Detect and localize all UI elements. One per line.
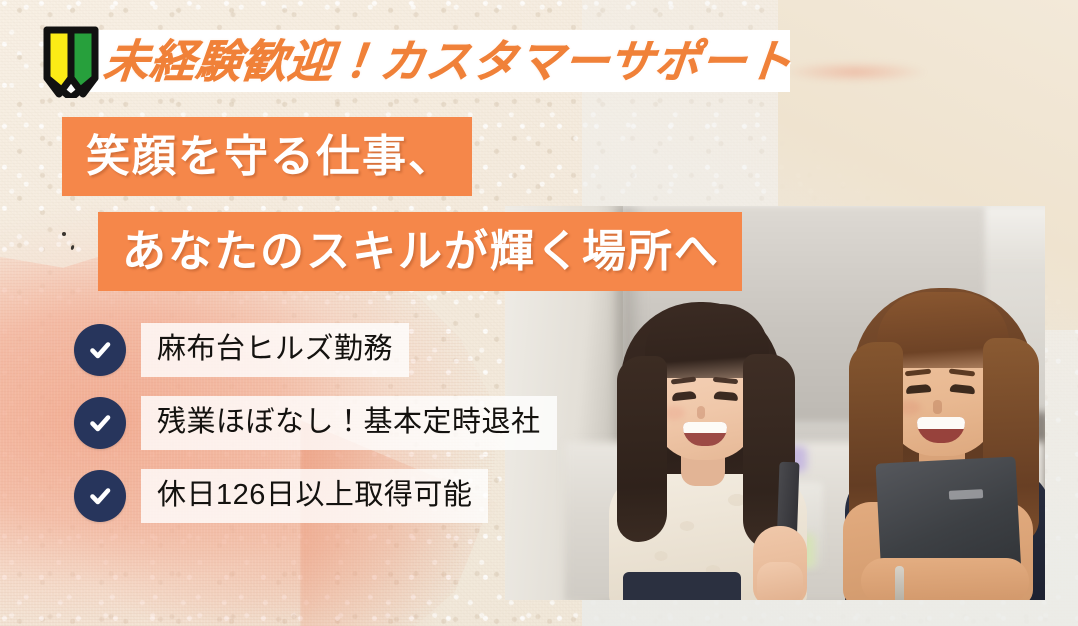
- benefit-item: 休日126日以上取得可能: [74, 470, 557, 522]
- laptop-logo: [949, 489, 983, 500]
- check-circle-icon: [74, 324, 126, 376]
- benefit-item: 残業ほぼなし！基本定時退社: [74, 397, 557, 449]
- benefit-label: 休日126日以上取得可能: [141, 469, 488, 523]
- benefit-label: 残業ほぼなし！基本定時退社: [141, 396, 557, 450]
- catch-copy-text: 未経験歓迎！カスタマーサポート: [101, 28, 797, 94]
- person-right-bracelet: [895, 566, 904, 600]
- person-right-nose: [933, 400, 942, 414]
- person-left-nose: [697, 406, 705, 419]
- benefits-list: 麻布台ヒルズ勤務 残業ほぼなし！基本定時退社 休日126日以上取得可能: [74, 324, 557, 543]
- benefit-item: 麻布台ヒルズ勤務: [74, 324, 557, 376]
- headline-line1-text: 笑顔を守る仕事、: [86, 135, 454, 179]
- person-left-skirt: [623, 572, 741, 600]
- person-left-hand: [757, 562, 803, 600]
- benefit-label: 麻布台ヒルズ勤務: [141, 323, 409, 377]
- headline-block-line2: あなたのスキルが輝く場所へ: [98, 212, 742, 291]
- check-circle-icon: [74, 470, 126, 522]
- headline-line2-text: あなたのスキルが輝く場所へ: [122, 230, 720, 274]
- person-right-forearm: [861, 558, 1029, 600]
- recruitment-banner: 未経験歓迎！カスタマーサポート 笑顔を守る仕事、 あなたのスキルが輝く場所へ 麻…: [0, 0, 1078, 626]
- check-circle-icon: [74, 397, 126, 449]
- headline-block-line1: 笑顔を守る仕事、: [62, 117, 472, 196]
- shoshinsha-beginner-mark-icon: [42, 26, 100, 98]
- person-left-hair-side: [617, 356, 667, 542]
- person-left-teeth: [683, 422, 727, 433]
- paper-speck: [62, 232, 66, 236]
- person-right-teeth: [917, 417, 965, 429]
